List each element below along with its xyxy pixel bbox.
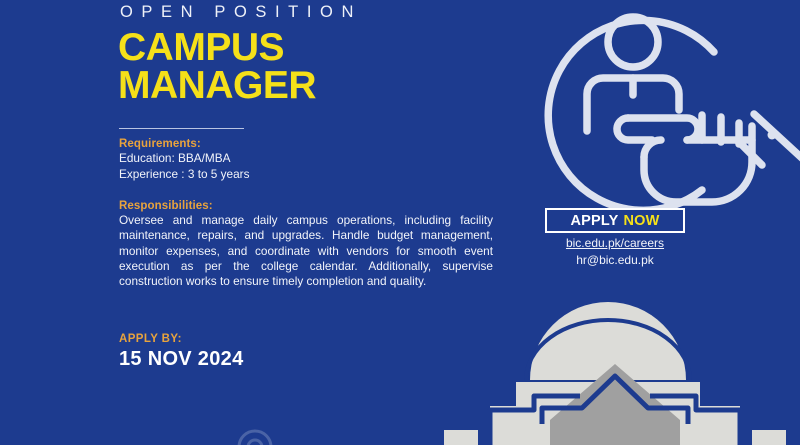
apply-by-label: APPLY BY: bbox=[119, 333, 244, 345]
divider bbox=[119, 128, 244, 129]
careers-url-link[interactable]: bic.edu.pk/careers bbox=[545, 236, 685, 250]
apply-now-word-apply: APPLY bbox=[570, 213, 618, 229]
hr-email-text: hr@bic.edu.pk bbox=[545, 253, 685, 267]
job-posting-poster: OPEN POSITION CAMPUS MANAGER Requirement… bbox=[0, 0, 800, 445]
apply-now-button[interactable]: APPLY NOW bbox=[545, 208, 685, 233]
job-title-line-2: MANAGER bbox=[118, 67, 316, 105]
requirement-education: Education: BBA/MBA bbox=[119, 151, 499, 167]
responsibilities-section: Responsibilities: Oversee and manage dai… bbox=[119, 200, 493, 289]
circular-watermark-icon bbox=[232, 424, 278, 445]
page-title: CAMPUS MANAGER bbox=[118, 29, 316, 105]
apply-now-word-now: NOW bbox=[623, 213, 659, 229]
responsibilities-label: Responsibilities: bbox=[119, 200, 493, 212]
job-title-line-1: CAMPUS bbox=[118, 29, 316, 67]
requirements-label: Requirements: bbox=[119, 138, 499, 150]
requirements-section: Requirements: Education: BBA/MBA Experie… bbox=[119, 138, 499, 182]
apply-by-section: APPLY BY: 15 NOV 2024 bbox=[119, 333, 244, 371]
requirement-experience: Experience : 3 to 5 years bbox=[119, 167, 499, 183]
responsibilities-text: Oversee and manage daily campus operatio… bbox=[119, 213, 493, 289]
domed-campus-building-icon bbox=[430, 300, 800, 445]
person-click-hand-icon bbox=[516, 0, 800, 209]
eyebrow-label: OPEN POSITION bbox=[120, 3, 362, 22]
apply-by-date: 15 NOV 2024 bbox=[119, 347, 244, 371]
